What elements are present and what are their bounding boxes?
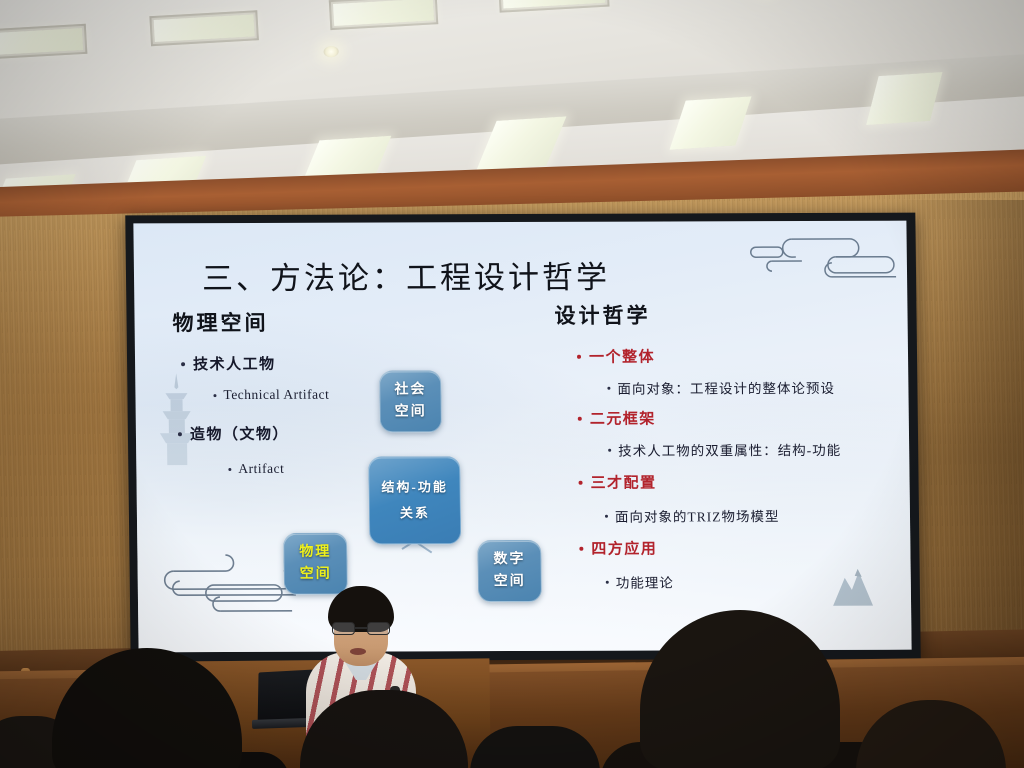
left-bullet-4-text: Artifact — [238, 461, 284, 477]
right-bullet-3: 二元框架 — [578, 408, 656, 429]
bullet-dot-icon — [605, 514, 608, 517]
bullet-dot-icon — [606, 580, 609, 583]
projection-screen: 三、方法论：工程设计哲学 物理空间 技术人工物 Technical Artifa… — [133, 221, 911, 653]
diagram-node-center[interactable]: 结构-功能 关系 — [368, 456, 461, 544]
ceiling-spotlight — [323, 46, 339, 58]
bullet-dot-icon — [579, 480, 583, 484]
right-bullet-5: 三才配置 — [578, 472, 656, 493]
diagram-node-digital[interactable]: 数字 空间 — [477, 540, 542, 602]
presenter-glasses-icon — [332, 622, 390, 635]
left-bullet-4: Artifact — [228, 461, 284, 477]
node-social-line1: 社会 — [394, 380, 426, 402]
bullet-dot-icon — [228, 468, 231, 471]
left-bullet-3: 造物（文物） — [178, 423, 289, 444]
bullet-dot-icon — [578, 416, 582, 420]
bullet-dot-icon — [608, 448, 611, 451]
node-social-line2: 空间 — [395, 401, 427, 423]
node-center-line1: 结构-功能 — [381, 477, 448, 497]
right-bullet-1-text: 一个整体 — [589, 346, 655, 367]
left-column-heading: 物理空间 — [172, 307, 268, 337]
right-bullet-2-text: 面向对象：工程设计的整体论预设 — [617, 377, 835, 398]
diagram-node-social[interactable]: 社会 空间 — [379, 370, 442, 432]
bullet-dot-icon — [213, 394, 216, 397]
slide-title: 三、方法论：工程设计哲学 — [202, 252, 611, 298]
right-bullet-2: 面向对象：工程设计的整体论预设 — [607, 377, 835, 398]
left-bullet-3-text: 造物（文物） — [190, 423, 289, 444]
right-bullet-8-text: 功能理论 — [616, 571, 674, 591]
right-column-heading: 设计哲学 — [554, 300, 650, 330]
left-bullet-2-text: Technical Artifact — [223, 387, 329, 403]
right-bullet-7-text: 四方应用 — [591, 538, 657, 559]
right-bullet-8: 功能理论 — [606, 571, 674, 591]
right-bullet-5-text: 三才配置 — [590, 472, 656, 493]
left-bullet-1: 技术人工物 — [181, 353, 276, 374]
right-bullet-4-text: 技术人工物的双重属性：结构-功能 — [618, 439, 841, 460]
node-digital-line2: 空间 — [494, 571, 526, 593]
cloud-motif-top-right-icon — [719, 227, 900, 290]
left-bullet-1-text: 技术人工物 — [193, 353, 276, 374]
bullet-dot-icon — [178, 432, 182, 436]
node-physical-line1: 物理 — [299, 542, 331, 564]
bullet-dot-icon — [181, 362, 185, 366]
lecture-hall-photo: 三、方法论：工程设计哲学 物理空间 技术人工物 Technical Artifa… — [0, 0, 1024, 768]
bullet-dot-icon — [607, 386, 610, 389]
projection-screen-frame: 三、方法论：工程设计哲学 物理空间 技术人工物 Technical Artifa… — [125, 213, 920, 662]
bullet-dot-icon — [577, 354, 581, 358]
right-bullet-1: 一个整体 — [577, 346, 655, 367]
right-bullet-6: 面向对象的TRIZ物场模型 — [605, 505, 780, 526]
mountain-silhouette-icon — [829, 566, 877, 606]
presenter-mouth — [350, 648, 366, 655]
pagoda-silhouette-icon — [159, 373, 194, 465]
left-bullet-2: Technical Artifact — [213, 387, 329, 403]
right-bullet-4: 技术人工物的双重属性：结构-功能 — [608, 439, 841, 460]
right-bullet-3-text: 二元框架 — [590, 408, 656, 429]
node-physical-line2: 空间 — [300, 564, 332, 586]
bullet-dot-icon — [579, 546, 583, 550]
right-bullet-6-text: 面向对象的TRIZ物场模型 — [615, 505, 780, 526]
node-digital-line1: 数字 — [493, 549, 525, 571]
node-center-line2: 关系 — [400, 503, 430, 523]
right-bullet-7: 四方应用 — [579, 538, 657, 559]
